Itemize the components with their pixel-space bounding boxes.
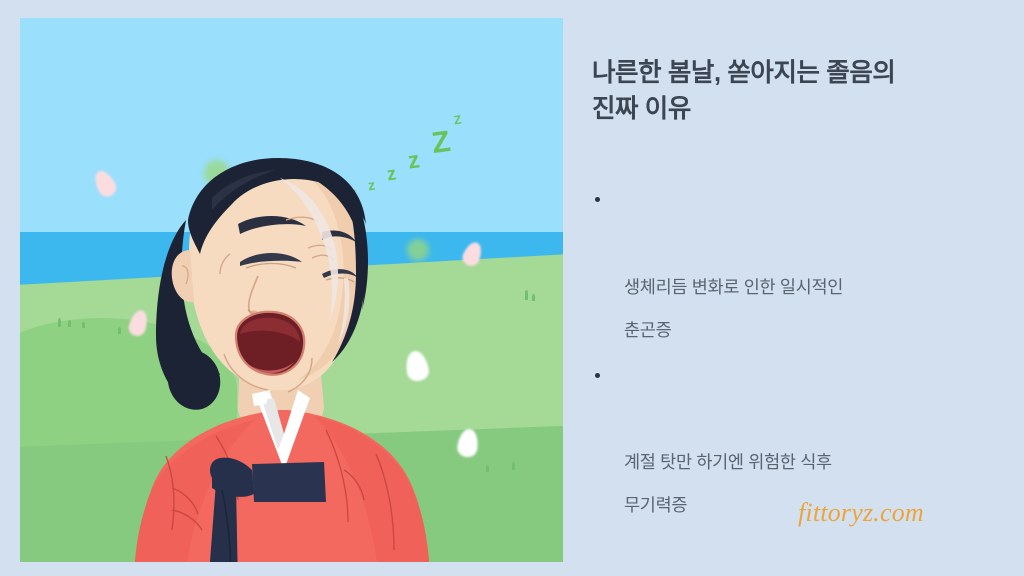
ridge-tree-icon [58, 318, 61, 327]
slide: z z z z Z Z [0, 0, 1024, 576]
illustration-image: z z z z Z Z [20, 18, 563, 562]
zzz-mark-icon: Z [430, 127, 452, 159]
list-item: 생체리듬 변화로 인한 일시적인 춘곤증 [592, 180, 986, 352]
ridge-tree-icon [68, 320, 71, 327]
site-watermark: fittoryz.com [798, 498, 924, 528]
zzz-mark-icon: Z [453, 114, 462, 127]
text-panel: 나른한 봄날, 쏟아지는 졸음의 진짜 이유 생체리듬 변화로 인한 일시적인 … [592, 0, 992, 576]
page-title: 나른한 봄날, 쏟아지는 졸음의 진짜 이유 [592, 55, 986, 127]
yawning-woman-figure [112, 158, 472, 562]
list-item-label: 생체리듬 변화로 인한 일시적인 춘곤증 [624, 277, 843, 340]
list-item: 계절 탓만 하기엔 위험한 식후 무기력증 [592, 356, 986, 528]
ridge-tree-icon [532, 294, 535, 301]
ridge-tree-icon [512, 462, 515, 470]
ridge-tree-icon [82, 322, 85, 328]
ridge-tree-icon [525, 290, 528, 300]
ridge-tree-icon [486, 465, 489, 472]
bullet-dot-icon [595, 197, 600, 202]
bullet-dot-icon [595, 373, 600, 378]
bullet-list: 생체리듬 변화로 인한 일시적인 춘곤증 계절 탓만 하기엔 위험한 식후 무기… [592, 180, 986, 531]
